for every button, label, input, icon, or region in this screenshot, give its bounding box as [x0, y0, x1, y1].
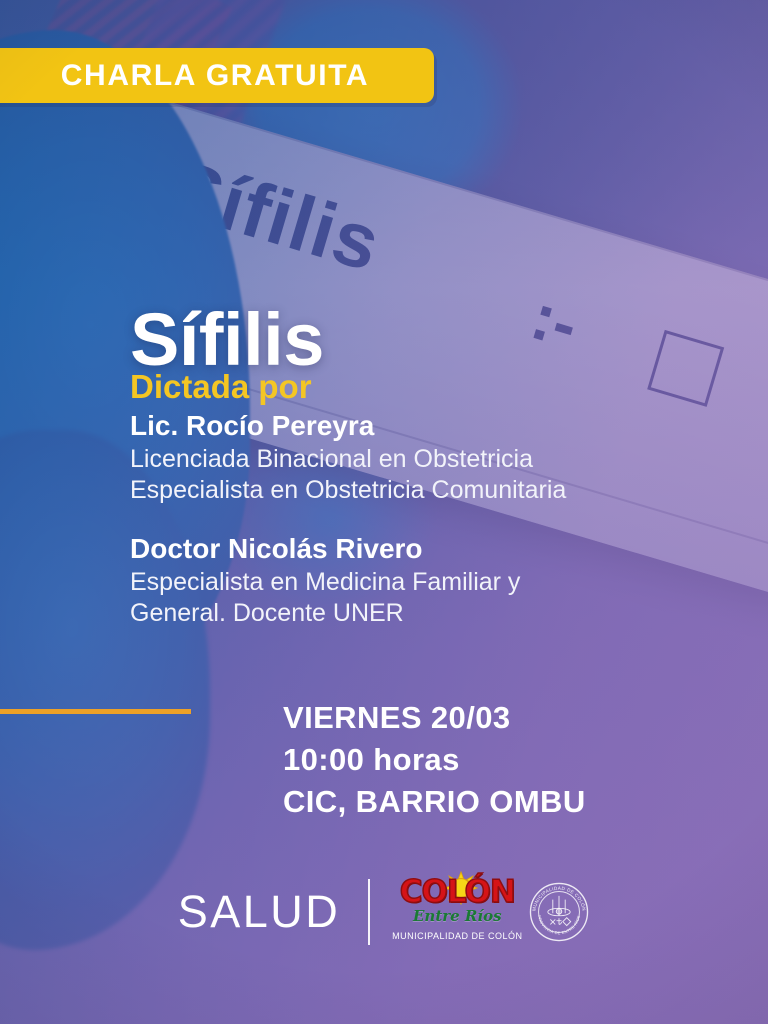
salud-wordmark: SALUD	[178, 886, 341, 938]
event-time: 10:00 horas	[283, 739, 586, 781]
event-location: CIC, BARRIO OMBU	[283, 781, 586, 823]
svg-text:PROVINCIA DE ENTRE RÍOS: PROVINCIA DE ENTRE RÍOS	[537, 915, 581, 936]
charla-gratuita-ribbon: CHARLA GRATUITA	[0, 48, 434, 103]
footer-divider	[368, 879, 370, 945]
speaker-name-1: Lic. Rocío Pereyra	[130, 409, 670, 444]
municipalidad-caption: MUNICIPALIDAD DE COLÓN	[392, 931, 522, 941]
municipal-seal-icon: MUNICIPALIDAD DE COLÓN PROVINCIA DE ENTR…	[528, 881, 590, 943]
poster-content: CHARLA GRATUITA Sífilis Dictada por Lic.…	[0, 0, 768, 1024]
ribbon-label: CHARLA GRATUITA	[45, 59, 369, 93]
speaker-entry-2: Doctor Nicolás Rivero Especialista en Me…	[130, 532, 670, 629]
dictada-por-label: Dictada por	[130, 368, 670, 407]
colon-wordmark: COLÓN	[400, 877, 515, 908]
poster-footer: SALUD COLÓN E	[0, 866, 768, 958]
speaker-name-2: Doctor Nicolás Rivero	[130, 532, 670, 567]
event-details-block: VIERNES 20/03 10:00 horas CIC, BARRIO OM…	[283, 697, 586, 823]
entre-rios-tagline: Entre Ríos	[413, 909, 502, 924]
event-date: VIERNES 20/03	[283, 697, 586, 739]
speaker-entry-1: Lic. Rocío Pereyra Licenciada Binacional…	[130, 409, 670, 506]
colon-municipality-logo: COLÓN Entre Ríos MUNICIPALIDAD DE COLÓN	[398, 877, 516, 947]
speaker-detail-2-1: Especialista en Medicina Familiar y	[130, 567, 670, 598]
speakers-block: Dictada por Lic. Rocío Pereyra Licenciad…	[130, 368, 670, 629]
speaker-spacer	[130, 506, 670, 532]
poster-root: Sífilis :- + ✓ CHARLA GRATUITA Sífilis D…	[0, 0, 768, 1024]
speaker-detail-1-1: Licenciada Binacional en Obstetricia	[130, 444, 670, 475]
event-accent-rule	[0, 709, 191, 714]
speaker-detail-1-2: Especialista en Obstetricia Comunitaria	[130, 475, 670, 506]
speaker-detail-2-2: General. Docente UNER	[130, 598, 670, 629]
